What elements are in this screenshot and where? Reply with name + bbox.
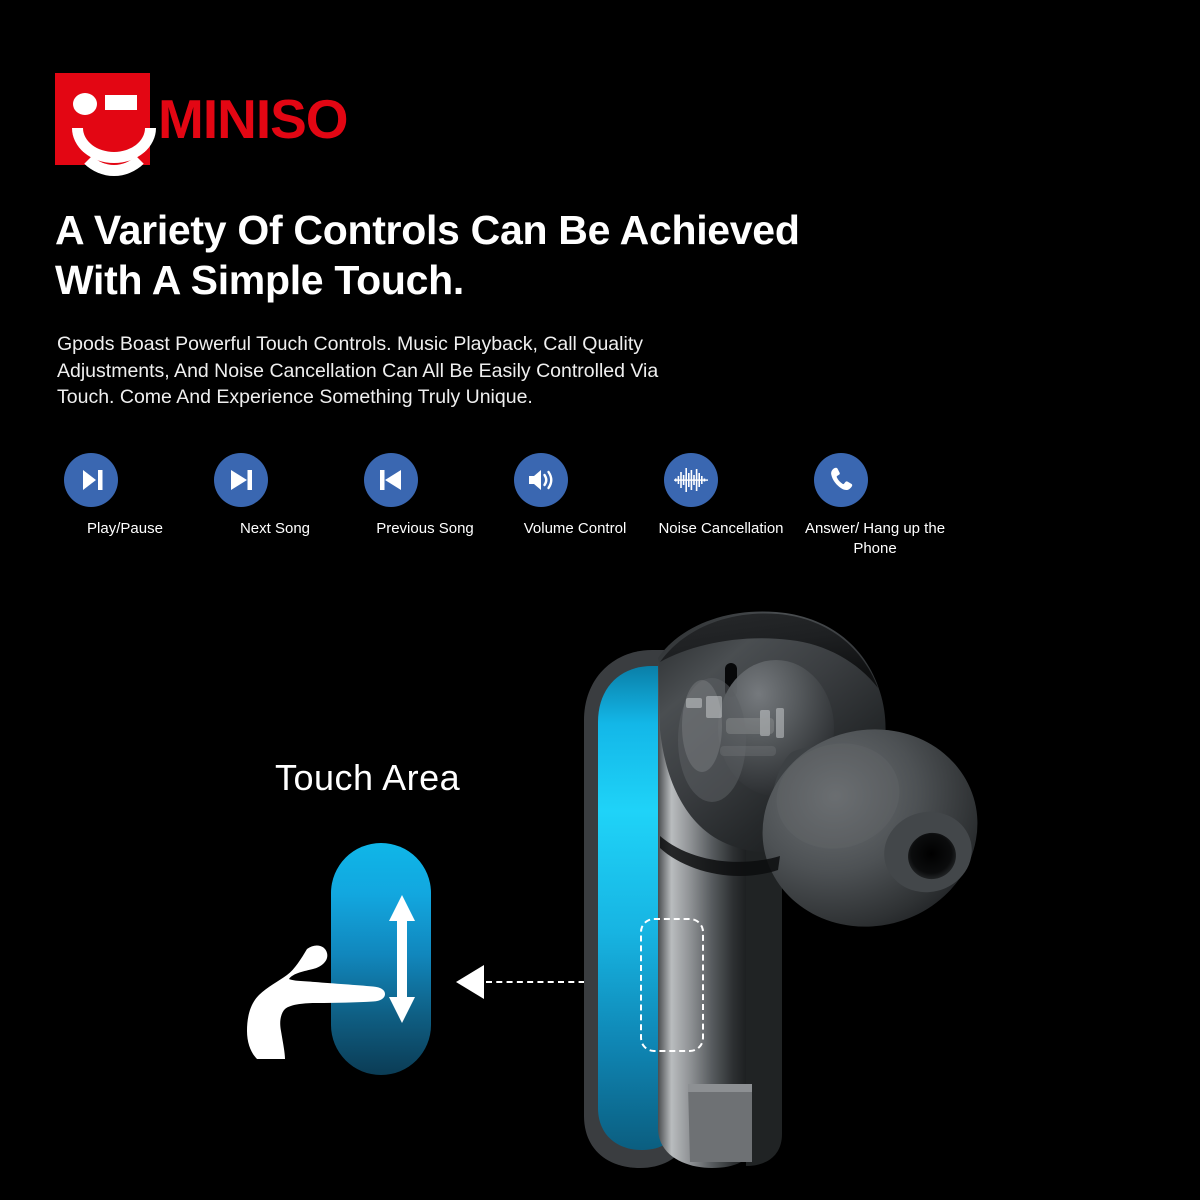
feature-answer-hangup[interactable]: Answer/ Hang up the Phone	[800, 453, 950, 560]
vertical-double-arrow-icon	[387, 895, 417, 1023]
phone-handset-icon[interactable]	[814, 453, 868, 507]
next-track-icon[interactable]	[214, 453, 268, 507]
touch-control-feature-list: Play/Pause Next Song Previous Song	[50, 453, 950, 560]
pointing-hand-icon	[245, 941, 387, 1061]
feature-label: Next Song	[200, 519, 350, 539]
body-line-2: Adjustments, And Noise Cancellation Can …	[57, 358, 747, 385]
feature-label: Previous Song	[350, 519, 500, 539]
noise-waveform-icon[interactable]	[664, 453, 718, 507]
touch-area-label: Touch Area	[275, 757, 460, 799]
body-line-3: Touch. Come And Experience Something Tru…	[57, 384, 747, 411]
feature-noise-cancellation[interactable]: Noise Cancellation	[650, 453, 800, 560]
feature-play-pause[interactable]: Play/Pause	[50, 453, 200, 560]
logo-smile-arc	[72, 106, 156, 176]
page-title: A Variety Of Controls Can Be Achieved Wi…	[55, 205, 955, 305]
feature-previous-song[interactable]: Previous Song	[350, 453, 500, 560]
feature-volume-control[interactable]: Volume Control	[500, 453, 650, 560]
miniso-wink-face-logo	[55, 73, 150, 165]
feature-label: Volume Control	[500, 519, 650, 539]
touch-surface-highlight-box	[640, 918, 704, 1052]
body-paragraph: Gpods Boast Powerful Touch Controls. Mus…	[57, 331, 747, 411]
earbud-product-render	[540, 600, 1010, 1170]
feature-next-song[interactable]: Next Song	[200, 453, 350, 560]
headline-line-2: With A Simple Touch.	[55, 255, 955, 305]
touch-area-illustration	[331, 843, 431, 1075]
headline-line-1: A Variety Of Controls Can Be Achieved	[55, 205, 955, 255]
feature-label: Noise Cancellation	[646, 519, 796, 539]
brand-logo: MINISO	[55, 73, 348, 165]
promo-page: MINISO A Variety Of Controls Can Be Achi…	[0, 0, 1200, 1200]
left-triangle-arrow-icon	[456, 965, 484, 999]
previous-track-icon[interactable]	[364, 453, 418, 507]
charging-contact	[688, 1084, 752, 1162]
body-line-1: Gpods Boast Powerful Touch Controls. Mus…	[57, 331, 747, 358]
volume-speaker-icon[interactable]	[514, 453, 568, 507]
brand-wordmark: MINISO	[158, 92, 348, 147]
feature-label: Play/Pause	[50, 519, 200, 539]
feature-label: Answer/ Hang up the Phone	[782, 519, 968, 560]
play-pause-icon[interactable]	[64, 453, 118, 507]
